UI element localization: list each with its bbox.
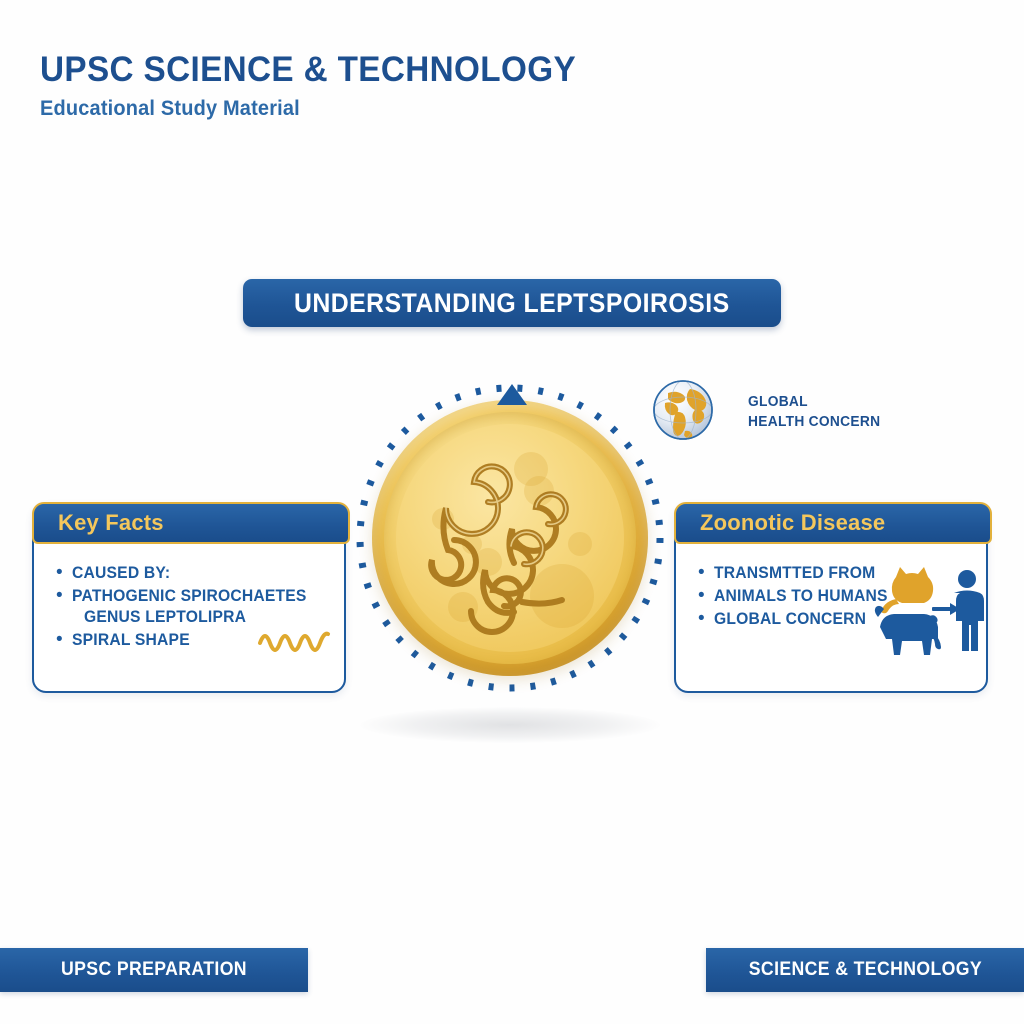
bullet-dot-icon: • (698, 563, 705, 583)
cow-icon (875, 606, 941, 655)
zoonotic-transmission-icons (872, 555, 984, 667)
globe-icon (652, 379, 714, 441)
spirochaete-shapes (396, 424, 624, 652)
arrow-right-icon (932, 603, 960, 615)
infographic-canvas: UPSC SCIENCE & TECHNOLOGY Educational St… (0, 0, 1024, 1024)
bullet-dot-icon: • (56, 630, 63, 650)
bullet-dot-icon: • (56, 586, 63, 606)
footer-bar-upsc-preparation: UPSC PREPARATION (0, 948, 308, 992)
title-banner-text: UNDERSTANDING LEPTSPOIROSIS (294, 288, 730, 319)
card-zoonotic-disease-title: Zoonotic Disease (700, 510, 885, 536)
bullet-dot-icon: • (698, 586, 705, 606)
list-item: • CAUSED BY: (34, 563, 348, 583)
list-item-label: SPIRAL SHAPE (72, 630, 190, 650)
footer-bar-science-technology: SCIENCE & TECHNOLOGY (706, 948, 1024, 992)
list-item-label: TRANSMTTED FROM (714, 563, 875, 583)
footer-right-label: SCIENCE & TECHNOLOGY (748, 959, 981, 981)
spiral-squiggle-icon (256, 623, 338, 653)
footer-left-label: UPSC PREPARATION (61, 959, 247, 981)
global-health-label: GLOBAL HEALTH CONCERN (748, 393, 880, 432)
triangle-up-icon (497, 384, 527, 405)
list-item-label-continued: GENUS LEPTOLIPRA (84, 607, 246, 627)
page-subtitle: Educational Study Material (40, 97, 705, 121)
card-key-facts: Key Facts • CAUSED BY: • PATHOGENIC SPIR… (32, 503, 346, 693)
title-banner: UNDERSTANDING LEPTSPOIROSIS (243, 279, 781, 327)
globe-label-line2: HEALTH CONCERN (748, 413, 880, 433)
person-icon (954, 570, 984, 651)
global-health-badge: GLOBAL HEALTH CONCERN (652, 379, 902, 445)
card-key-facts-header: Key Facts (32, 502, 350, 544)
cell-drop-shadow (360, 707, 660, 743)
bullet-dot-icon: • (56, 563, 63, 583)
bullet-dot-icon: • (698, 609, 705, 629)
list-item-label: CAUSED BY: (72, 563, 170, 583)
card-zoonotic-disease: Zoonotic Disease • TRANSMTTED FROM • ANI… (674, 503, 988, 693)
page-title: UPSC SCIENCE & TECHNOLOGY (40, 52, 705, 89)
list-item: • PATHOGENIC SPIROCHAETES (34, 586, 348, 606)
card-zoonotic-disease-header: Zoonotic Disease (674, 502, 992, 544)
globe-label-line1: GLOBAL (748, 393, 880, 413)
list-item-label: ANIMALS TO HUMANS (714, 586, 888, 606)
page-header: UPSC SCIENCE & TECHNOLOGY Educational St… (40, 52, 740, 121)
cat-icon (881, 567, 933, 613)
list-item-label: PATHOGENIC SPIROCHAETES (72, 586, 307, 606)
card-key-facts-title: Key Facts (58, 510, 164, 536)
list-item-label: GLOBAL CONCERN (714, 609, 866, 629)
bacteria-cell-illustration (352, 372, 672, 732)
